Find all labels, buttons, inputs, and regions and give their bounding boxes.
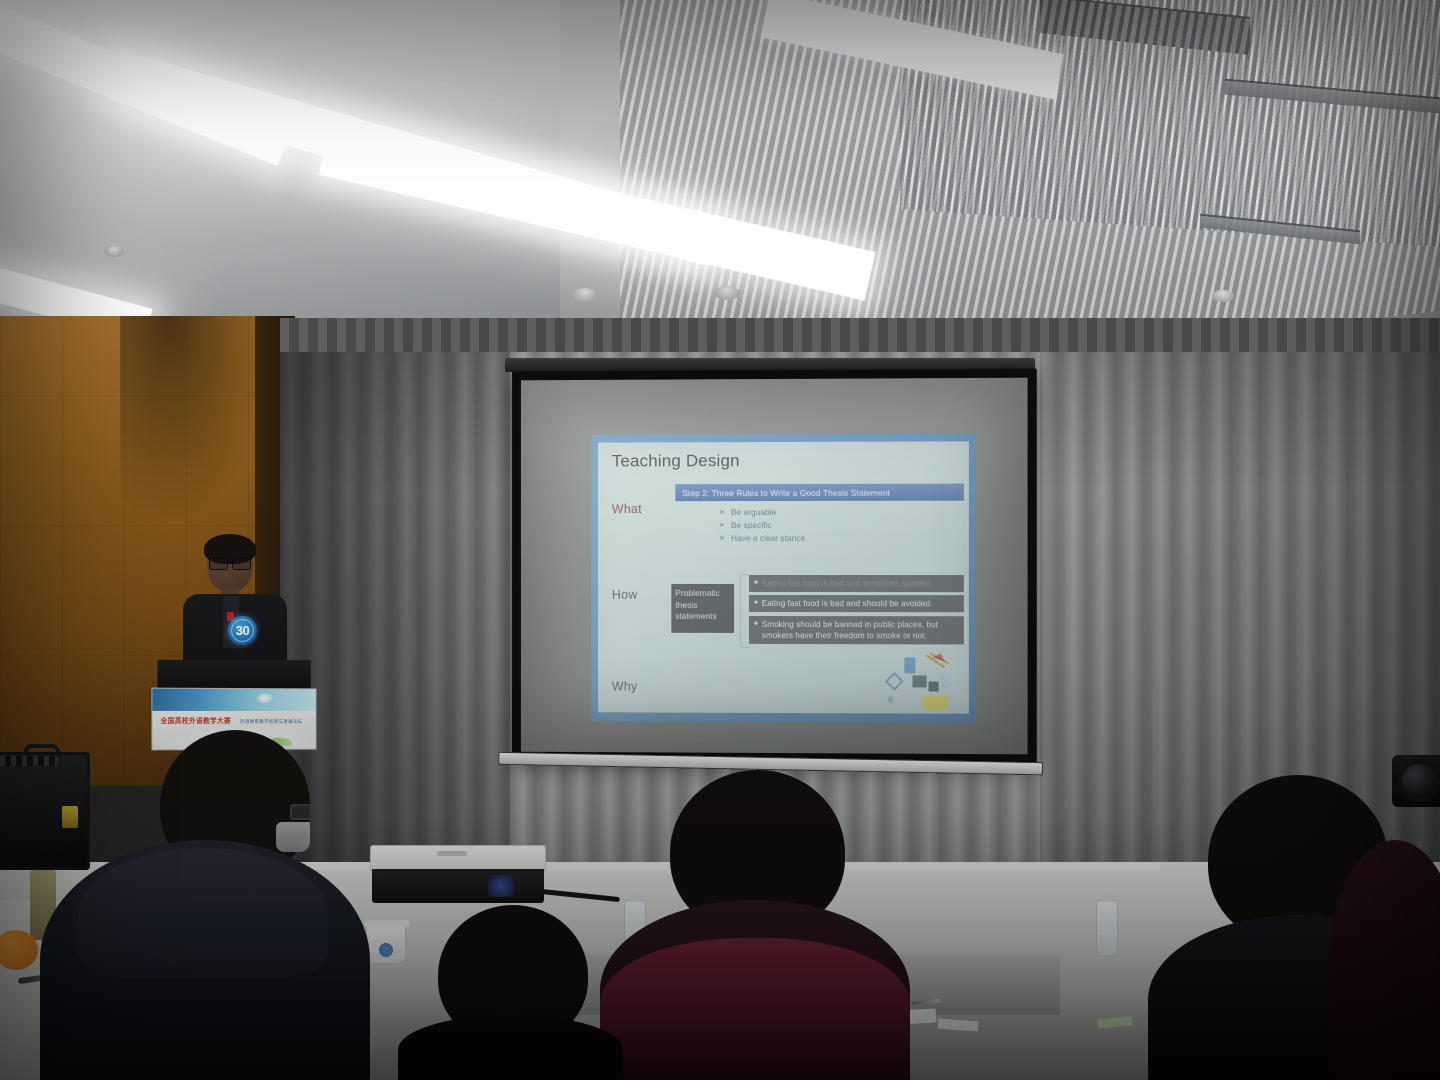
podium-banner-highlight bbox=[257, 693, 273, 703]
audience-member bbox=[398, 905, 618, 1080]
audience-jacket bbox=[600, 938, 910, 1080]
audience-body bbox=[1330, 840, 1440, 1080]
audience-hood bbox=[78, 848, 328, 978]
podium-banner-gradient bbox=[152, 689, 315, 711]
screen-vignette bbox=[521, 378, 1028, 755]
audience-member bbox=[600, 770, 900, 1080]
mic-flag-number: 30 bbox=[236, 624, 249, 637]
smoke-detector-icon bbox=[714, 286, 740, 300]
projector-vent-slot bbox=[437, 851, 467, 856]
smoke-detector-icon bbox=[1212, 290, 1234, 302]
projection-screen: Teaching Design What How Why Step 2: Thr… bbox=[512, 369, 1037, 764]
cup-logo-icon bbox=[379, 943, 393, 957]
bottle-cap bbox=[1102, 893, 1114, 902]
microphone-flag: 30 bbox=[228, 616, 257, 645]
camera-lens-icon bbox=[1398, 760, 1440, 802]
audience-member bbox=[40, 730, 360, 1080]
projector bbox=[370, 845, 546, 907]
smoke-detector-icon bbox=[104, 246, 124, 257]
eyeglasses-icon bbox=[209, 558, 251, 568]
screen-surface: Teaching Design What How Why Step 2: Thr… bbox=[521, 378, 1028, 755]
conference-room-photo: Teaching Design What How Why Step 2: Thr… bbox=[0, 0, 1440, 1080]
audience-member bbox=[1330, 840, 1440, 1080]
water-bottle bbox=[1096, 900, 1118, 956]
audience-body bbox=[398, 1015, 623, 1080]
projector-lens-icon bbox=[488, 875, 514, 897]
face-mask-icon bbox=[276, 822, 310, 852]
projector-body bbox=[372, 869, 544, 903]
ceiling bbox=[0, 0, 1440, 330]
smoke-detector-icon bbox=[572, 288, 598, 302]
projector-top bbox=[370, 845, 546, 871]
eyeglasses-icon bbox=[290, 804, 312, 820]
